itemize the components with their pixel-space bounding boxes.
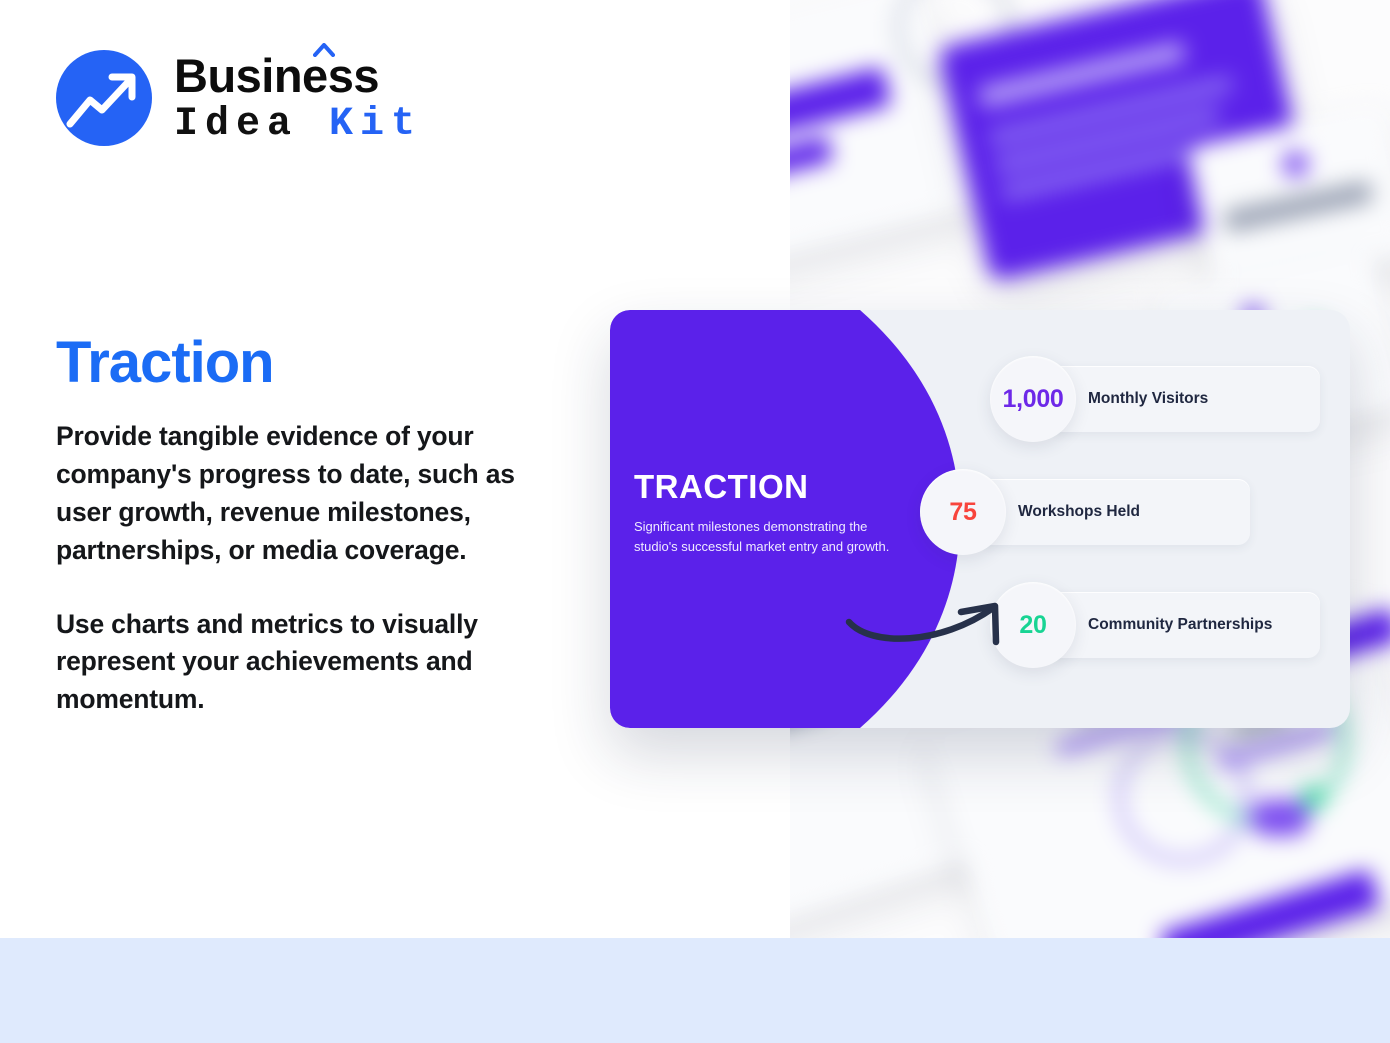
slide-preview-page: Business Idea Kit Traction Provide tangi… xyxy=(0,0,1390,1043)
panel-text-block: TRACTION Significant milestones demonstr… xyxy=(634,470,904,557)
brand-name-text: Business xyxy=(174,49,379,102)
metrics-list: Monthly Visitors 1,000 Workshops Held 75… xyxy=(990,356,1320,668)
circumflex-accent-icon xyxy=(313,43,335,57)
brand-kit-text: Kit xyxy=(329,102,422,147)
metric-pill: Workshops Held xyxy=(978,479,1250,545)
metric-circle: 75 xyxy=(920,469,1006,555)
metric-pill: Monthly Visitors xyxy=(1048,366,1320,432)
growth-arrow-icon xyxy=(56,50,152,146)
metric-item[interactable]: Monthly Visitors 1,000 xyxy=(990,356,1320,442)
metric-circle: 1,000 xyxy=(990,356,1076,442)
body-paragraph: Provide tangible evidence of your compan… xyxy=(56,418,576,570)
brand-logo: Business Idea Kit xyxy=(56,50,422,146)
metric-value: 1,000 xyxy=(1002,385,1063,414)
traction-slide-card: TRACTION Significant milestones demonstr… xyxy=(610,310,1350,728)
metric-item[interactable]: Workshops Held 75 xyxy=(920,469,1320,555)
brand-idea-text: Idea xyxy=(174,102,298,147)
brand-name-line1: Business xyxy=(174,52,422,99)
metric-label: Community Partnerships xyxy=(1088,615,1272,634)
body-copy: Provide tangible evidence of your compan… xyxy=(56,418,576,719)
metric-pill: Community Partnerships xyxy=(1048,592,1320,658)
brand-name-line2: Idea Kit xyxy=(174,105,422,145)
brand-wordmark: Business Idea Kit xyxy=(174,52,422,145)
metric-item[interactable]: Community Partnerships 20 xyxy=(990,582,1320,668)
page-title: Traction xyxy=(56,334,274,392)
metric-label: Workshops Held xyxy=(1018,502,1140,521)
metric-value: 75 xyxy=(949,498,976,527)
panel-subtitle: Significant milestones demonstrating the… xyxy=(634,517,904,557)
metric-label: Monthly Visitors xyxy=(1088,389,1208,408)
metric-value: 20 xyxy=(1019,611,1046,640)
panel-title: TRACTION xyxy=(634,470,904,503)
body-paragraph: Use charts and metrics to visually repre… xyxy=(56,606,576,720)
curved-growth-arrow-icon xyxy=(845,595,1010,655)
bottom-accent-strip xyxy=(0,938,1390,1043)
